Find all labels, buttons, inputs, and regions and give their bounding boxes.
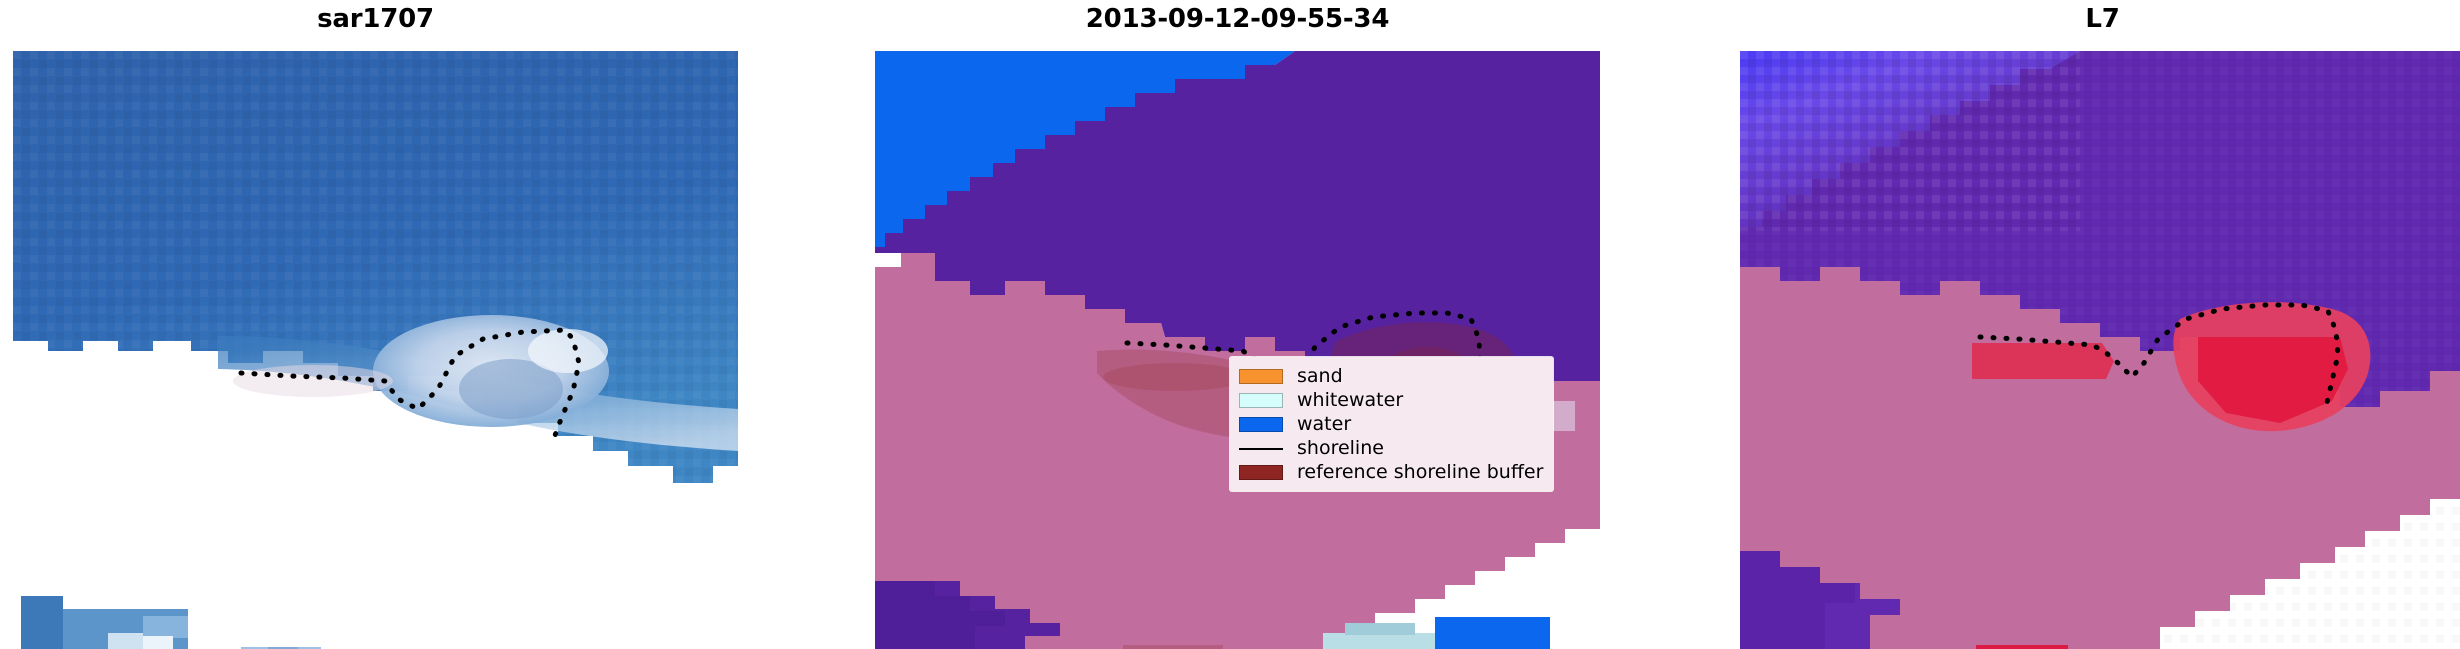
legend-swatch-sand — [1239, 369, 1283, 384]
panel-title-1: sar1707 — [13, 4, 738, 34]
legend-label-reference-buffer: reference shoreline buffer — [1297, 463, 1543, 482]
legend-item-sand[interactable]: sand — [1239, 364, 1543, 388]
raster-l7 — [1740, 51, 2460, 649]
legend-swatch-water — [1239, 417, 1283, 432]
legend-swatch-whitewater — [1239, 393, 1283, 408]
legend-item-water[interactable]: water — [1239, 412, 1543, 436]
legend-label-sand: sand — [1297, 367, 1343, 386]
panel-title-3: L7 — [1740, 4, 2460, 34]
legend-box: sand whitewater water shoreline referenc… — [1230, 357, 1553, 491]
legend-swatch-reference-buffer — [1239, 465, 1283, 480]
class-water-bottom — [1435, 617, 1550, 649]
legend-line-shoreline — [1239, 441, 1283, 456]
legend-label-whitewater: whitewater — [1297, 391, 1403, 410]
panel-l7: L7 — [1740, 0, 2460, 649]
axes-image-2[interactable]: sand whitewater water shoreline referenc… — [875, 51, 1600, 649]
legend-label-water: water — [1297, 415, 1351, 434]
l7-buffer-left — [1972, 343, 2114, 379]
raster-sar1707 — [13, 51, 738, 649]
legend-item-reference-buffer[interactable]: reference shoreline buffer — [1239, 460, 1543, 484]
legend-item-shoreline[interactable]: shoreline — [1239, 436, 1543, 460]
axes-image-1[interactable] — [13, 51, 738, 649]
panel-sar1707: sar1707 — [13, 0, 738, 649]
panel-2013-09-12-09-55-34: 2013-09-12-09-55-34 — [875, 0, 1600, 649]
legend-item-whitewater[interactable]: whitewater — [1239, 388, 1543, 412]
legend-label-shoreline: shoreline — [1297, 439, 1384, 458]
raster-classified — [875, 51, 1600, 649]
panel-title-2: 2013-09-12-09-55-34 — [875, 4, 1600, 34]
axes-image-3[interactable] — [1740, 51, 2460, 649]
figure-canvas: sar1707 — [0, 0, 2460, 649]
